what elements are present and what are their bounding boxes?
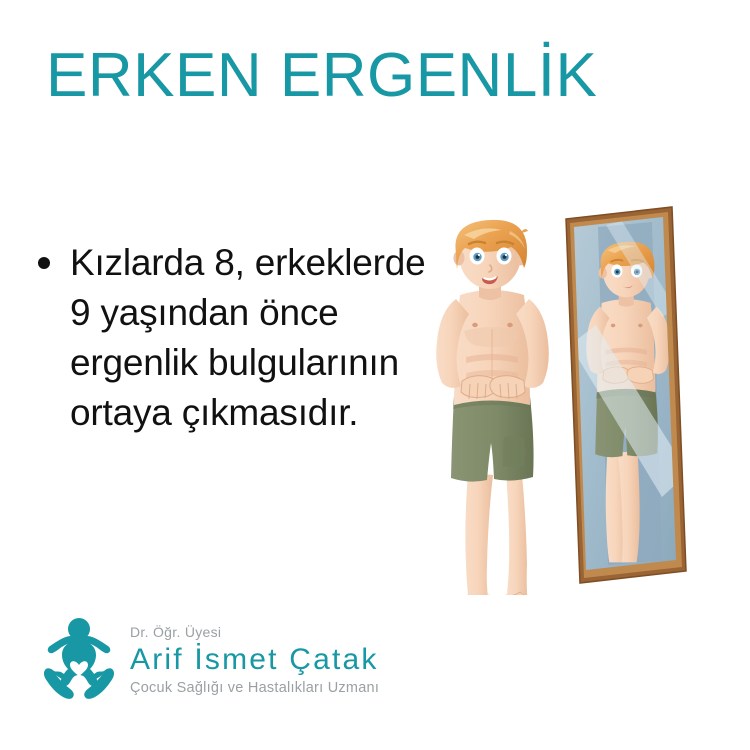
page-title: ERKEN ERGENLİK xyxy=(46,41,597,111)
brand-subtitle: Çocuk Sağlığı ve Hastalıkları Uzmanı xyxy=(130,679,379,698)
mirror-graphic xyxy=(566,207,688,583)
boy-figure xyxy=(436,220,549,595)
bullet-text: Kızlarda 8, erkeklerde 9 yaşından önce e… xyxy=(70,238,438,438)
boy-looking-in-mirror-illustration xyxy=(420,205,710,595)
bullet-dot-icon xyxy=(38,257,50,269)
brand-name: Arif İsmet Çatak xyxy=(130,642,379,678)
brand-text-block: Dr. Öğr. Üyesi Arif İsmet Çatak Çocuk Sa… xyxy=(130,621,379,698)
slide-canvas: ERKEN ERGENLİK Kızlarda 8, erkeklerde 9 … xyxy=(0,0,750,750)
bullet-list: Kızlarda 8, erkeklerde 9 yaşından önce e… xyxy=(38,238,438,438)
child-in-hands-logo-icon xyxy=(40,616,118,702)
list-item: Kızlarda 8, erkeklerde 9 yaşından önce e… xyxy=(38,238,438,438)
brand-footer: Dr. Öğr. Üyesi Arif İsmet Çatak Çocuk Sa… xyxy=(40,616,379,702)
brand-pretitle: Dr. Öğr. Üyesi xyxy=(130,623,379,641)
